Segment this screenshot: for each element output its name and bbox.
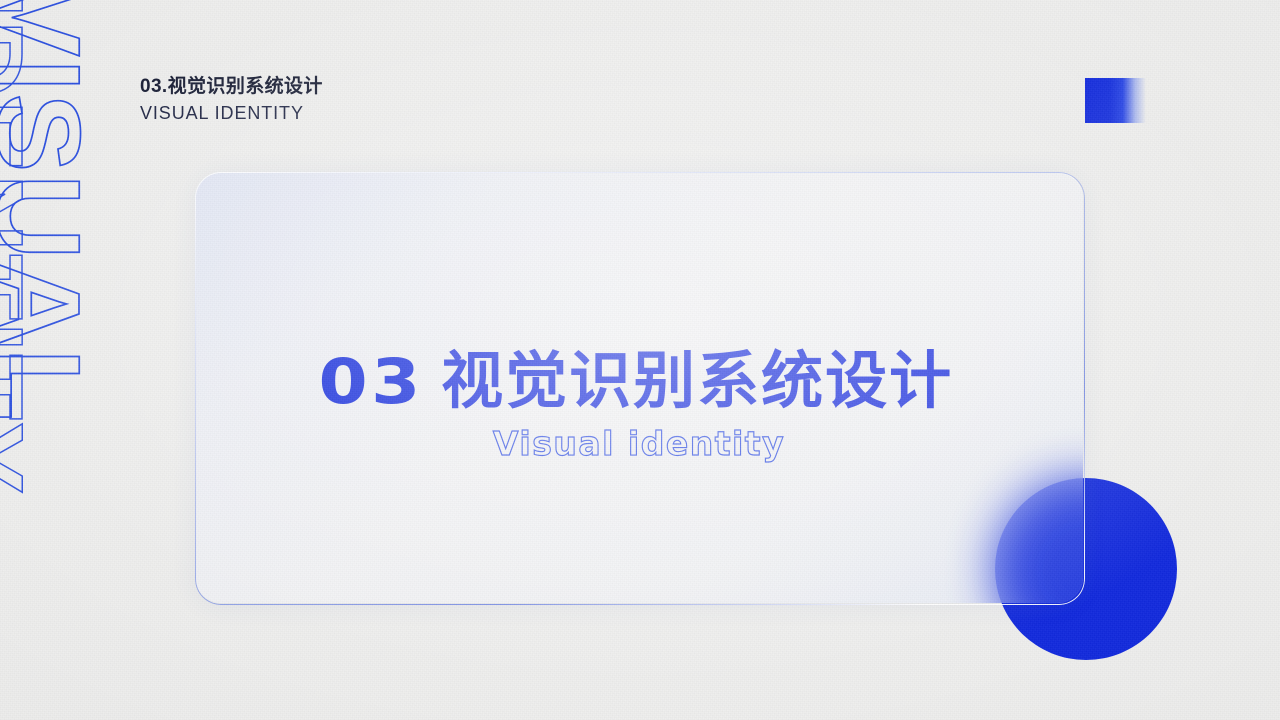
vertical-wordmark-identity: IDENTITY [0, 0, 48, 496]
slide-header: 03.视觉识别系统设计 VISUAL IDENTITY [140, 74, 323, 125]
header-title-cn: 03.视觉识别系统设计 [140, 74, 323, 99]
vertical-wordmark-visual: VISUAL [0, 0, 106, 423]
header-title-en: VISUAL IDENTITY [140, 102, 323, 125]
vertical-wordmark-group: IDENTITY VISUAL [0, 0, 140, 720]
glass-card [195, 172, 1083, 603]
blue-gradient-rectangle [1085, 78, 1146, 123]
slide-canvas: IDENTITY VISUAL 03.视觉识别系统设计 VISUAL IDENT… [0, 0, 1280, 720]
